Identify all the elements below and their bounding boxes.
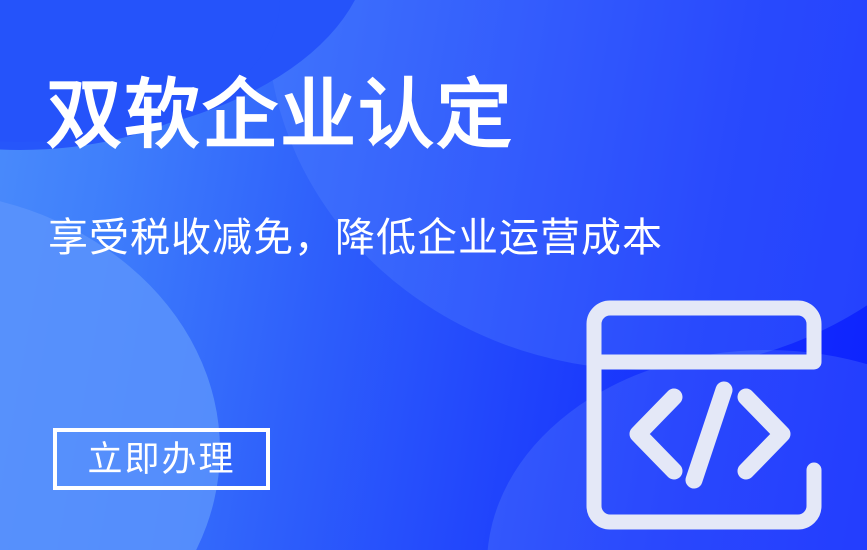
apply-now-button[interactable]: 立即办理 [53,428,270,490]
code-window-icon-svg [586,300,828,530]
window-frame [594,308,814,522]
code-window-icon [586,300,828,530]
promo-banner: 双软企业认定 享受税收减免，降低企业运营成本 立即办理 [0,0,867,550]
slash-icon [694,390,724,480]
angle-bracket-left-icon [638,397,674,471]
banner-title: 双软企业认定 [46,78,514,154]
banner-content: 双软企业认定 享受税收减免，降低企业运营成本 立即办理 [0,0,867,550]
banner-subtitle: 享受税收减免，降低企业运营成本 [48,215,663,261]
angle-bracket-right-icon [746,397,782,471]
